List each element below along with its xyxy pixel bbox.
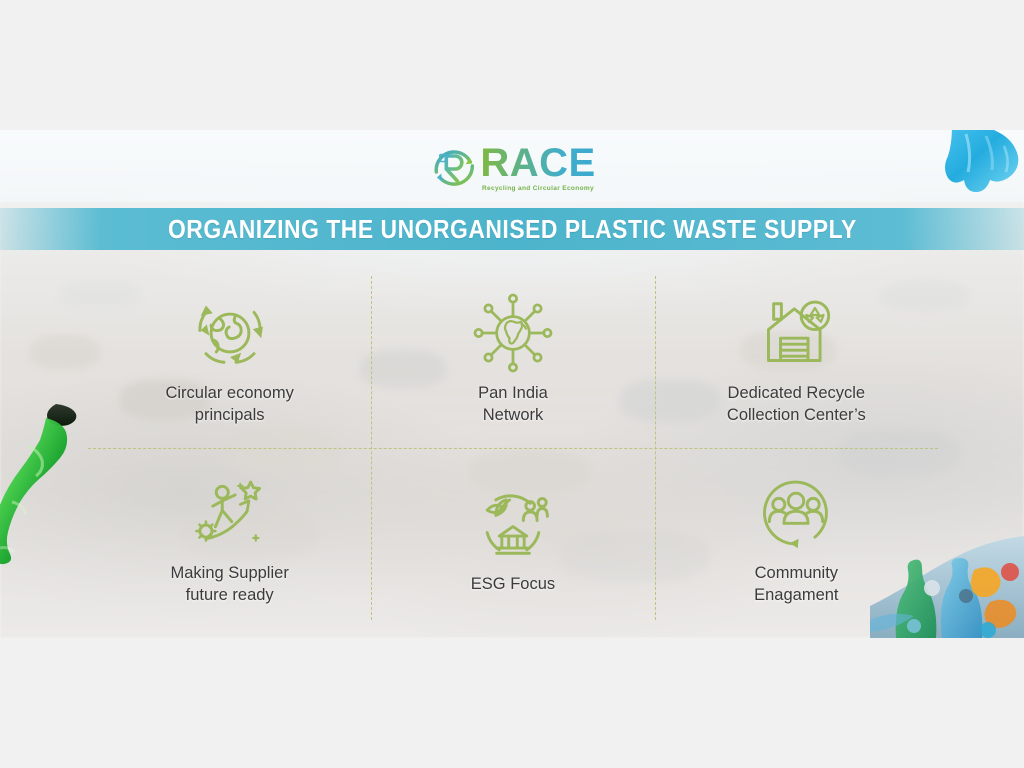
people-group-circular-arrow-icon	[753, 470, 839, 556]
esg-leaf-people-bank-icon	[470, 481, 556, 567]
feature-card-esg-focus[interactable]: ESG Focus	[371, 448, 654, 628]
banner-title: ORGANIZING THE UNORGANISED PLASTIC WASTE…	[168, 214, 857, 245]
feature-card-supplier-future-ready[interactable]: Making Supplier future ready	[88, 448, 371, 628]
feature-grid: Circular economy principals	[88, 268, 938, 628]
plastic-waste-pile-photo	[870, 510, 1024, 638]
green-plastic-bottle-photo	[0, 398, 98, 578]
logo-wordmark: RACE	[480, 143, 595, 183]
feature-label: Dedicated Recycle Collection Center’s	[727, 382, 866, 426]
blue-plastic-bag-photo	[922, 130, 1024, 206]
feature-label: Community Enagament	[754, 562, 838, 606]
banner: RACE Recycling and Circular Economy ORGA…	[0, 130, 1024, 638]
race-logo: RACE Recycling and Circular Economy	[428, 142, 595, 192]
globe-recycle-arrows-icon	[187, 290, 273, 376]
feature-card-pan-india-network[interactable]: Pan India Network	[371, 268, 654, 448]
race-r-recycle-icon	[428, 142, 480, 192]
india-map-network-icon	[470, 290, 556, 376]
feature-card-recycle-collection-center[interactable]: Dedicated Recycle Collection Center’s	[655, 268, 938, 448]
title-bar: ORGANIZING THE UNORGANISED PLASTIC WASTE…	[0, 208, 1024, 250]
infographic-canvas: RACE Recycling and Circular Economy ORGA…	[0, 0, 1024, 768]
feature-label: Circular economy principals	[165, 382, 293, 426]
logo-text-block: RACE Recycling and Circular Economy	[480, 143, 595, 192]
feature-label: Pan India Network	[478, 382, 548, 426]
recycle-facility-building-icon	[753, 290, 839, 376]
feature-card-circular-economy[interactable]: Circular economy principals	[88, 268, 371, 448]
logo-tagline: Recycling and Circular Economy	[482, 185, 594, 192]
feature-label: ESG Focus	[471, 573, 555, 595]
person-growth-arrow-star-gear-icon	[187, 470, 273, 556]
feature-label: Making Supplier future ready	[171, 562, 289, 606]
logo-header: RACE Recycling and Circular Economy	[0, 130, 1024, 202]
